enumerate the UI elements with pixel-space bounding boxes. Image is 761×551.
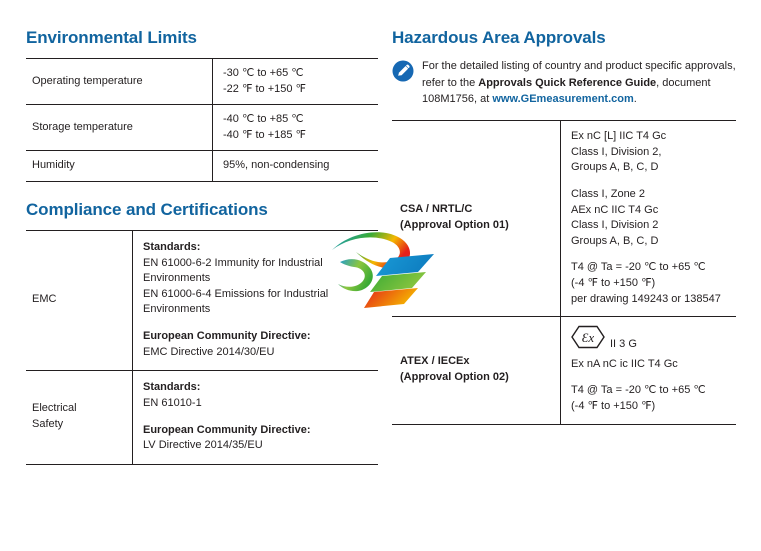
note-text-part3: . [634, 93, 637, 105]
document-page: Environmental Limits Operating temperatu… [0, 0, 761, 551]
ex-hexagon-icon: Ɛx [571, 325, 605, 355]
row-value: -30 ℃ to +65 ℃ -22 ℉ to +150 ℉ [213, 59, 379, 105]
row-label-line: (Approval Option 02) [400, 370, 552, 386]
standard-line: EN 61000-6-4 Emissions for Industrial [143, 287, 370, 303]
note-text-bold: Approvals Quick Reference Guide [478, 77, 656, 89]
directive-heading: European Community Directive: [143, 329, 370, 345]
approval-line: T4 @ Ta = -20 ℃ to +65 ℃ [571, 260, 728, 276]
svg-text:Ɛx: Ɛx [582, 330, 594, 345]
page-title-compliance-certifications: Compliance and Certifications [26, 200, 378, 220]
table-row: Storage temperature -40 ℃ to +85 ℃ -40 ℉… [26, 105, 378, 151]
standard-line: Environments [143, 302, 370, 318]
row-label: ATEX / IECEx (Approval Option 02) [392, 317, 561, 424]
ex-marking-row: Ɛx II 3 G [571, 325, 728, 355]
approval-line: (-4 ℉ to +150 ℉) [571, 276, 728, 292]
table-row: Electrical Safety Standards: EN 61010-1 … [26, 371, 378, 464]
row-value: Ɛx II 3 G Ex nA nC ic IIC T4 Gc T4 @ Ta … [561, 317, 737, 424]
approval-line: T4 @ Ta = -20 ℃ to +65 ℃ [571, 383, 728, 399]
compliance-certifications-table: EMC Standards: EN 61000-6-2 Immunity for… [26, 230, 378, 465]
table-row: ATEX / IECEx (Approval Option 02) Ɛx I [392, 317, 736, 424]
row-label: Electrical Safety [26, 371, 133, 464]
note-callout: For the detailed listing of country and … [392, 58, 736, 108]
table-row: Operating temperature -30 ℃ to +65 ℃ -22… [26, 59, 378, 105]
value-line: -22 ℉ to +150 ℉ [223, 82, 370, 98]
table-row: CSA / NRTL/C (Approval Option 01) Ex nC … [392, 121, 736, 317]
standard-line: EN 61010-1 [143, 396, 370, 412]
ex-class-label: II 3 G [610, 337, 637, 355]
row-value: Standards: EN 61000-6-2 Immunity for Ind… [133, 231, 379, 371]
value-line: -40 ℃ to +85 ℃ [223, 112, 370, 128]
standards-heading: Standards: [143, 240, 370, 256]
approval-line: Ex nA nC ic IIC T4 Gc [571, 357, 728, 373]
directive-line: LV Directive 2014/35/EU [143, 438, 370, 454]
row-label: CSA / NRTL/C (Approval Option 01) [392, 121, 561, 317]
approval-line: Class I, Division 2 [571, 218, 728, 234]
row-label: Operating temperature [26, 59, 213, 105]
directive-line: EMC Directive 2014/30/EU [143, 345, 370, 361]
spacer [143, 412, 370, 423]
row-label: Humidity [26, 151, 213, 182]
value-line: -40 ℉ to +185 ℉ [223, 128, 370, 144]
right-column: Hazardous Area Approvals For the detaile… [392, 28, 736, 425]
row-label-line: (Approval Option 01) [400, 218, 552, 234]
standards-heading: Standards: [143, 380, 370, 396]
row-label: EMC [26, 231, 133, 371]
row-value: Ex nC [L] IIC T4 Gc Class I, Division 2,… [561, 121, 737, 317]
approval-line: AEx nC IIC T4 Gc [571, 203, 728, 219]
approval-line: Groups A, B, C, D [571, 160, 728, 176]
approval-line: Ex nC [L] IIC T4 Gc [571, 129, 728, 145]
value-line: -30 ℃ to +65 ℃ [223, 66, 370, 82]
row-value: Standards: EN 61010-1 European Community… [133, 371, 379, 464]
approval-line: (-4 ℉ to +150 ℉) [571, 399, 728, 415]
spacer [571, 176, 728, 187]
spacer [143, 318, 370, 329]
spacer [571, 372, 728, 383]
note-text: For the detailed listing of country and … [422, 58, 736, 108]
approval-line: Groups A, B, C, D [571, 234, 728, 250]
hazardous-area-approvals-table: CSA / NRTL/C (Approval Option 01) Ex nC … [392, 120, 736, 425]
directive-heading: European Community Directive: [143, 423, 370, 439]
left-column: Environmental Limits Operating temperatu… [26, 28, 378, 465]
gemeasurement-link[interactable]: www.GEmeasurement.com [492, 93, 633, 105]
row-value: -40 ℃ to +85 ℃ -40 ℉ to +185 ℉ [213, 105, 379, 151]
page-title-hazardous-area-approvals: Hazardous Area Approvals [392, 28, 736, 48]
row-label-line: ATEX / IECEx [400, 354, 552, 370]
value-line: 95%, non-condensing [223, 158, 370, 174]
approval-line: Class I, Zone 2 [571, 187, 728, 203]
environmental-limits-table: Operating temperature -30 ℃ to +65 ℃ -22… [26, 58, 378, 182]
standard-line: EN 61000-6-2 Immunity for Industrial [143, 256, 370, 272]
table-row: Humidity 95%, non-condensing [26, 151, 378, 182]
row-label-line: Safety [32, 417, 124, 433]
approval-line: per drawing 149243 or 138547 [571, 292, 728, 308]
page-title-environmental-limits: Environmental Limits [26, 28, 378, 48]
pencil-icon [392, 60, 414, 82]
row-label: Storage temperature [26, 105, 213, 151]
approval-line: Class I, Division 2, [571, 145, 728, 161]
row-value: 95%, non-condensing [213, 151, 379, 182]
table-row: EMC Standards: EN 61000-6-2 Immunity for… [26, 231, 378, 371]
row-label-line: CSA / NRTL/C [400, 202, 552, 218]
spacer [571, 249, 728, 260]
row-label-line: Electrical [32, 401, 124, 417]
standard-line: Environments [143, 271, 370, 287]
